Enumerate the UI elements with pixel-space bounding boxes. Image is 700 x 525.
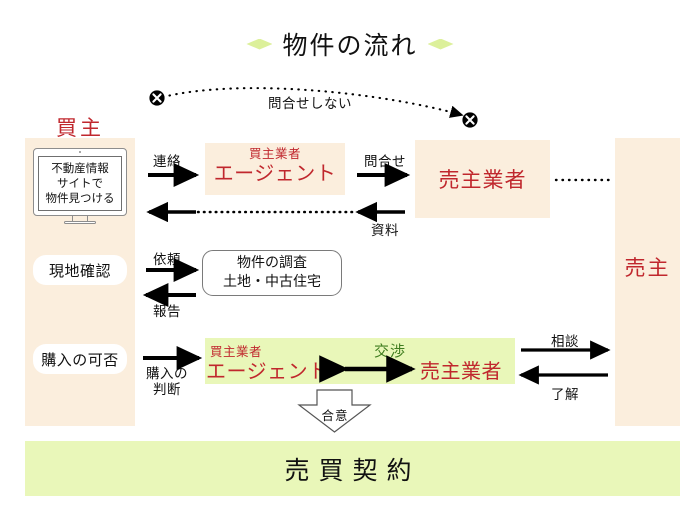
title-text: 物件の流れ xyxy=(282,26,417,62)
label-houkoku: 報告 xyxy=(134,300,200,320)
page-title: 物件の流れ xyxy=(0,26,700,62)
monitor-screen: 不動産情報 サイトで 物件見つける xyxy=(38,156,122,211)
x-mark-left-icon xyxy=(149,90,164,105)
seller-agent-box: 売主業者 xyxy=(415,140,550,218)
property-survey-box: 物件の調査 土地・中古住宅 xyxy=(202,250,342,296)
negotiation-label: 交渉 xyxy=(350,340,430,361)
label-irai: 依頼 xyxy=(134,248,200,268)
diamond-left-icon xyxy=(246,39,272,50)
site-check-cell: 現地確認 xyxy=(33,255,127,285)
buyer-agent-title: エージェント xyxy=(205,161,345,185)
property-survey-text: 物件の調査 土地・中古住宅 xyxy=(223,254,321,292)
buyer-column-label: 買主 xyxy=(25,112,135,142)
seller-column-label: 売主 xyxy=(615,252,680,282)
negotiation-seller-agent-title: 売主業者 xyxy=(420,355,520,384)
label-goui: 合意 xyxy=(314,405,356,424)
buyer-agent-box: 買主業者 エージェント xyxy=(205,143,345,195)
monitor-icon: 不動産情報 サイトで 物件見つける xyxy=(33,148,127,224)
monitor-screen-text: 不動産情報 サイトで 物件見つける xyxy=(46,161,115,206)
contract-band: 売買契約 xyxy=(25,441,680,496)
label-renraku: 連絡 xyxy=(132,150,202,170)
diagram-canvas: 物件の流れ 買主 売主 不動産情報 サイトで 物件見つける 現地確認 購入の可否… xyxy=(0,0,700,525)
label-toiawase-shinai: 問合せしない xyxy=(225,92,395,112)
label-kounyu-handan: 購入の 判断 xyxy=(130,366,204,398)
monitor-camera-dot xyxy=(79,151,81,153)
contract-text: 売買契約 xyxy=(284,451,420,487)
monitor-base xyxy=(64,221,96,224)
x-mark-right-icon xyxy=(462,112,477,127)
buyer-agent-subtitle: 買主業者 xyxy=(205,143,345,161)
diamond-right-icon xyxy=(428,39,454,50)
label-toiawase: 問合せ xyxy=(350,150,420,170)
label-soudan: 相談 xyxy=(524,330,606,350)
label-shiryou: 資料 xyxy=(350,219,420,239)
negotiation-buyer-agent-title: エージェント xyxy=(206,355,346,384)
purchase-decision-cell: 購入の可否 xyxy=(33,344,127,374)
label-ryoukai: 了解 xyxy=(524,383,606,403)
seller-agent-title: 売主業者 xyxy=(439,164,527,194)
seller-column-band xyxy=(615,138,680,426)
